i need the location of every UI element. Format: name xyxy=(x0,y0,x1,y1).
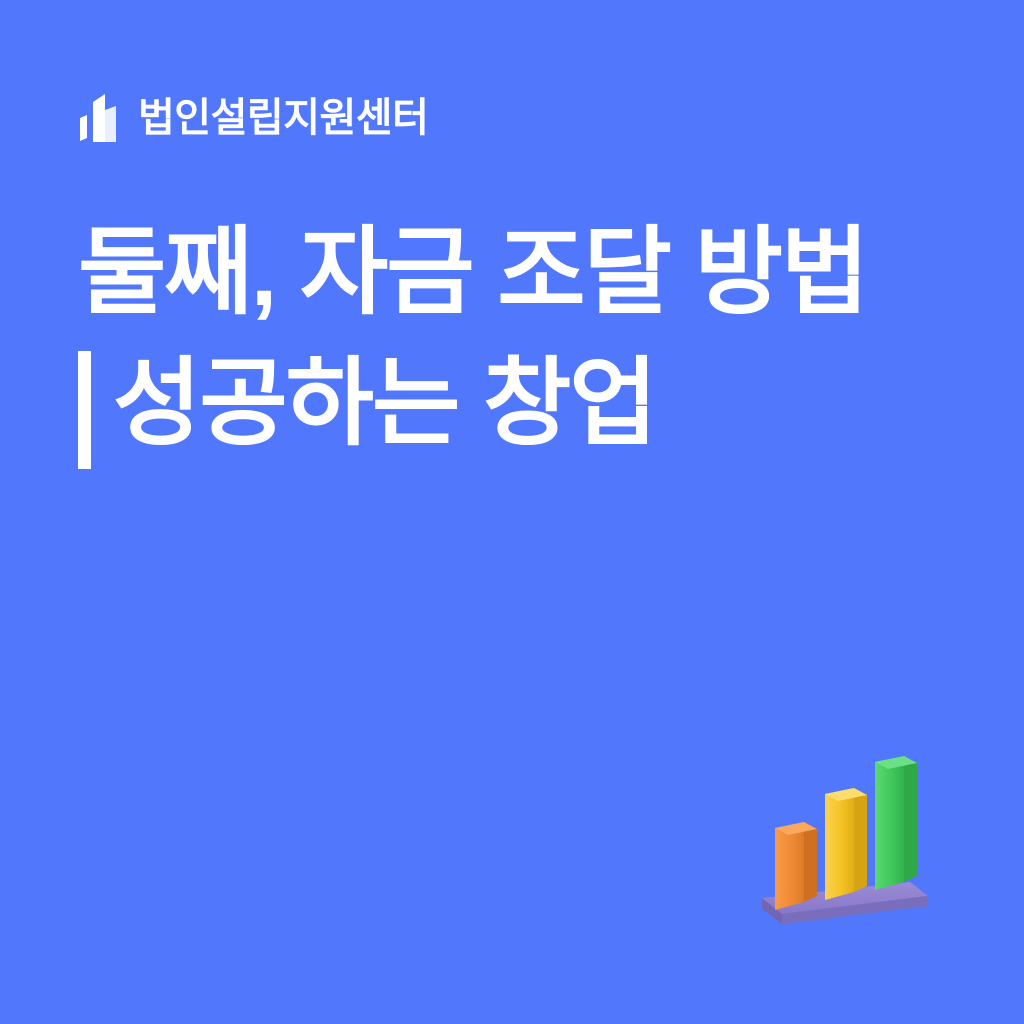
headline-line-2: 성공하는 창업 xyxy=(113,339,656,470)
bar-chart-illustration xyxy=(742,748,942,943)
bar-2-yellow xyxy=(825,788,867,900)
bar-1-orange xyxy=(775,822,817,910)
headline-line-1: 둘째, 자금 조달 방법 xyxy=(78,208,938,339)
headline-rule-icon xyxy=(78,351,91,469)
page-title: 둘째, 자금 조달 방법 성공하는 창업 xyxy=(78,208,938,469)
brand-name: 법인설립지원센터 xyxy=(138,98,428,138)
brand-lockup[interactable]: 법인설립지원센터 xyxy=(78,92,428,144)
bar-3-green xyxy=(875,756,917,890)
building-bars-logo-icon xyxy=(78,92,124,144)
headline-line-2-row: 성공하는 창업 xyxy=(78,339,938,470)
